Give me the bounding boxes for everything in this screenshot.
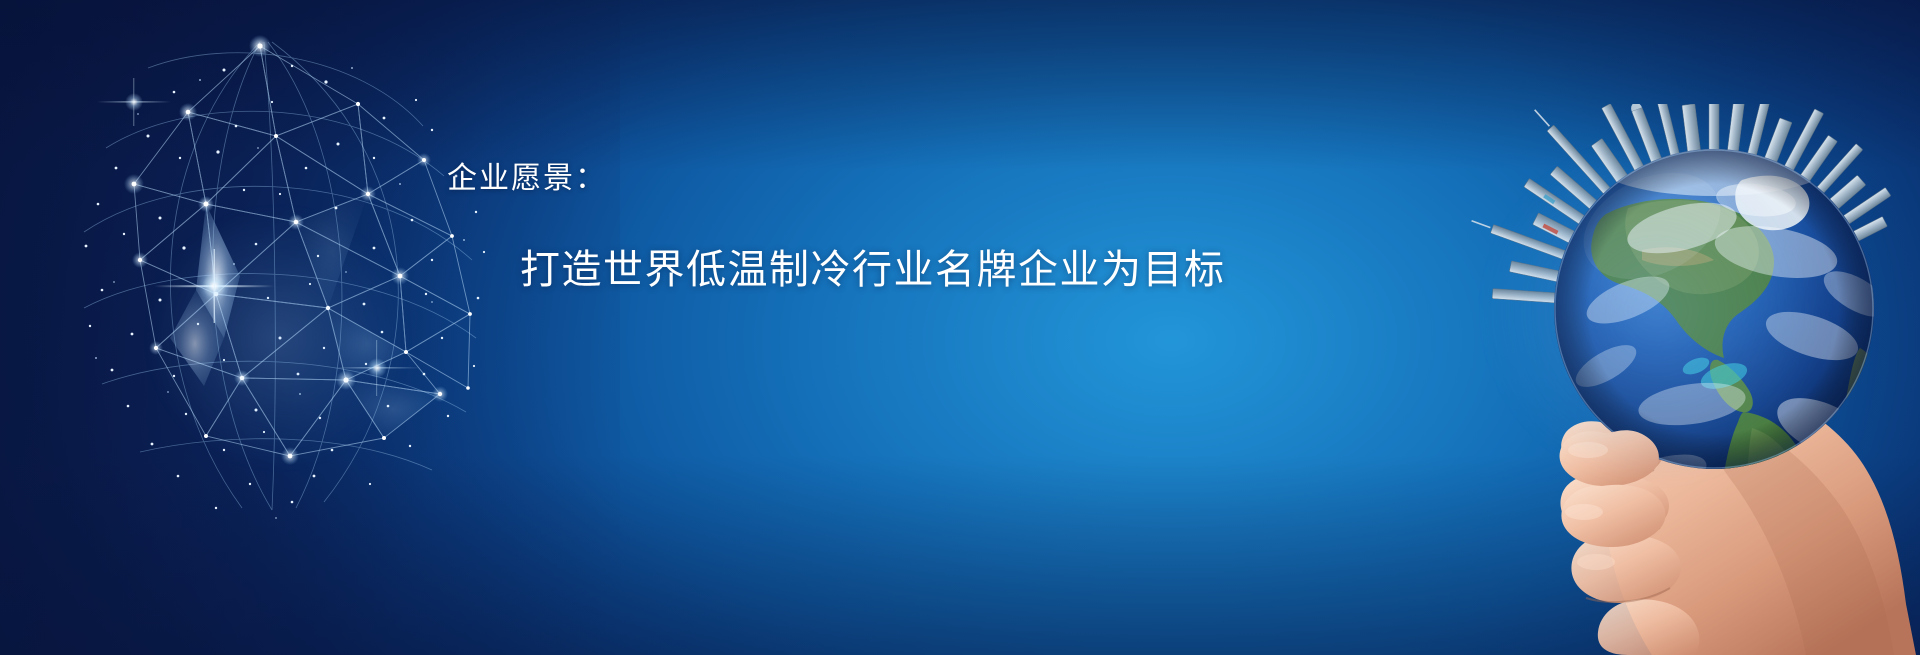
vision-label: 企业愿景： [447, 160, 1207, 198]
banner-copy: 企业愿景： 打造世界低温制冷行业名牌企业为目标 [447, 160, 1207, 198]
vision-headline: 打造世界低温制冷行业名牌企业为目标 [520, 244, 1226, 296]
background-bottom-shade [0, 455, 1920, 655]
background-top-shade [0, 0, 1920, 170]
vision-banner: 企业愿景： 打造世界低温制冷行业名牌企业为目标 [0, 0, 1920, 655]
